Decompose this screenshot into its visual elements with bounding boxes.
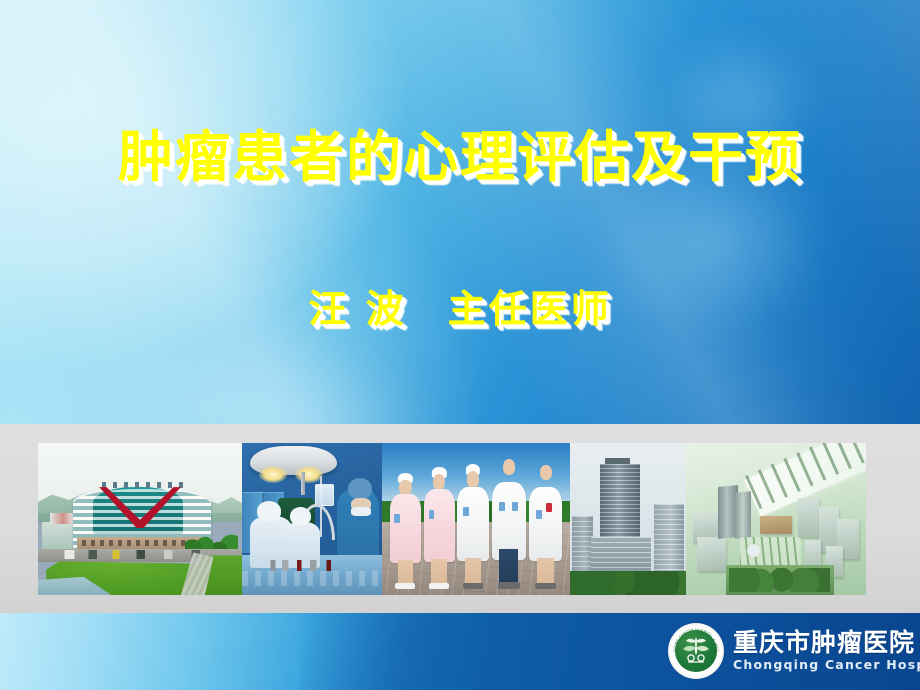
photo-operating-room-surgery (242, 443, 382, 595)
head (467, 471, 479, 488)
staff-nurse-1 (388, 470, 424, 589)
surgical-lamp-arm (301, 472, 305, 495)
surgical-mask-icon (351, 507, 371, 516)
shoes (535, 583, 556, 589)
staff-nurse-3 (455, 461, 491, 589)
head (540, 465, 552, 480)
staff-doctor-female (527, 461, 565, 589)
shoes (463, 583, 483, 589)
id-badge (394, 514, 400, 522)
head (503, 459, 515, 475)
campus-block-4 (798, 498, 820, 538)
id-badge (536, 510, 542, 519)
photo-medical-staff-walking (382, 443, 570, 595)
head (433, 474, 445, 490)
hospital-seal-icon: CHONGQING CANCER HOSPITAL & INSTITUTE 重庆… (668, 623, 724, 679)
pink-uniform (424, 489, 455, 561)
street-trees (570, 571, 686, 595)
red-scarf (546, 503, 552, 512)
presenter-subtitle: 汪 波 主任医师 (0, 278, 920, 333)
pink-uniform (390, 494, 421, 563)
id-badge (429, 510, 435, 519)
campus-tower-2 (735, 491, 751, 538)
white-uniform (457, 487, 488, 561)
neighbor-building-right-windows (654, 504, 684, 574)
photo-high-rise-tower (570, 443, 686, 595)
photo-strip (38, 443, 866, 595)
campus-trees (729, 568, 830, 592)
page-title: 肿瘤患者的心理评估及干预 (0, 112, 920, 192)
shoes (429, 583, 449, 589)
id-badge (499, 502, 505, 511)
tower-podium-windows (591, 537, 651, 573)
surgical-cap-center (290, 507, 311, 525)
iv-fluid-bag (315, 484, 334, 506)
id-badge (463, 507, 469, 516)
white-coat (529, 487, 562, 561)
campus-central-building (760, 516, 792, 534)
photo-hospital-building-exterior (38, 443, 242, 595)
shoes (498, 582, 520, 589)
surgical-cap-right (348, 478, 372, 499)
hospital-name-cn: 重庆市肿瘤医院 (733, 630, 920, 655)
surgical-instruments (264, 560, 345, 571)
seal-leaf-emblem-icon (677, 632, 715, 670)
staff-doctor-male (489, 455, 528, 589)
head (399, 480, 411, 495)
surgical-cap-left (257, 501, 281, 521)
photo-campus-aerial-masterplan (686, 443, 866, 595)
presentation-slide: 肿瘤患者的心理评估及干预 汪 波 主任医师 (0, 0, 920, 690)
shoes (395, 583, 415, 589)
surgical-lamp-glow-left (259, 466, 287, 483)
campus-block-2 (697, 537, 726, 570)
rooftop-equipment (95, 482, 183, 488)
chest-emblem (512, 502, 518, 511)
surgical-lamp-glow-right (295, 466, 323, 483)
table-drape-folds (242, 571, 382, 586)
hospital-name-en: Chongqing Cancer Hospital (733, 659, 920, 672)
hospital-logo-text: 重庆市肿瘤医院 Chongqing Cancer Hospital (733, 630, 920, 672)
hospital-logo: CHONGQING CANCER HOSPITAL & INSTITUTE 重庆… (668, 620, 900, 682)
staff-nurse-2 (421, 464, 457, 589)
